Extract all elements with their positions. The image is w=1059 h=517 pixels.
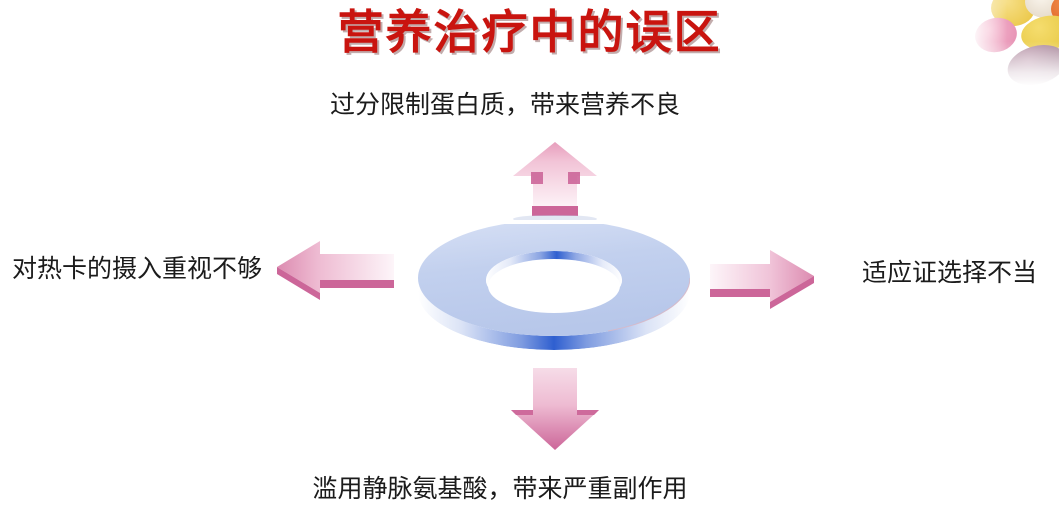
candy-eggs-photo (963, 0, 1059, 86)
label-right: 适应证选择不当 (862, 256, 1059, 291)
arrow-left-icon (274, 236, 398, 306)
label-bottom: 滥用静脉氨基酸，带来严重副作用 (0, 472, 1000, 507)
slide-canvas: 营养治疗中的误区 (0, 0, 1059, 517)
arrow-right-icon (708, 244, 818, 316)
center-ring-shape (418, 224, 690, 360)
page-title: 营养治疗中的误区 (0, 2, 1059, 62)
label-left: 对热卡的摄入重视不够 (12, 252, 270, 287)
arrow-up-icon (505, 140, 605, 220)
arrow-down-icon (503, 366, 607, 452)
label-top: 过分限制蛋白质，带来营养不良 (0, 88, 1010, 123)
